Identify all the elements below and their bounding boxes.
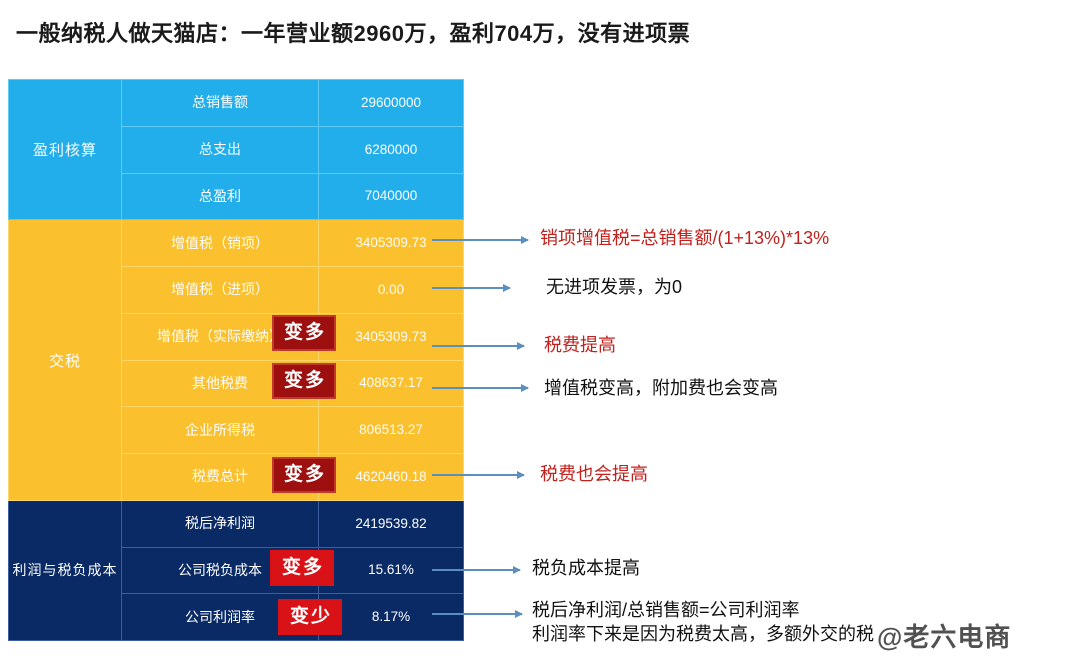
row-value-text: 408637.17 [359,375,423,390]
row-label-text: 增值税（销项） [122,235,318,252]
watermark-text: @老六电商 [877,617,1011,654]
row-label-text: 总销售额 [122,94,318,111]
row-label: 税后净利润 [122,500,319,547]
row-label: 总盈利 [122,173,319,220]
table-row: 交税 增值税（销项） 3405309.73 [9,220,464,267]
row-value-text: 3405309.73 [355,329,426,344]
annotation-vat-and-surcharge-increase: 增值税变高，附加费也会变高 [544,376,778,400]
row-value: 4620460.18 [319,454,464,501]
row-value-text: 4620460.18 [355,469,426,484]
row-value: 806513.27 [319,407,464,454]
annotation-output-vat-formula: 销项增值税=总销售额/(1+13%)*13% [540,226,829,250]
badge-tax-burden-increase: 变多 [270,550,334,586]
annotation-profit-rate-explanation: 税后净利润/总销售额=公司利润率 利润率下来是因为税费太高，多额外交的税 [532,598,874,647]
row-value-text: 7040000 [365,188,418,203]
annotation-tax-burden-increase: 税负成本提高 [532,556,640,580]
row-value: 6280000 [319,126,464,173]
row-label-text: 增值税（进项） [122,281,318,298]
row-value-text: 8.17% [372,609,410,624]
row-label: 总支出 [122,126,319,173]
row-value: 29600000 [319,80,464,127]
row-label-text: 企业所得税 [122,422,318,439]
row-value: 3405309.73 [319,220,464,267]
row-value-text: 2419539.82 [355,516,426,531]
tax-comparison-table: 盈利核算 总销售额 29600000 总支出 6280000 总盈利 70400… [8,79,464,641]
annotation-tax-increase: 税费提高 [544,333,616,357]
row-value: 7040000 [319,173,464,220]
row-value: 408637.17 [319,360,464,407]
arrow-to-annotation-3 [432,345,524,347]
row-value-text: 0.00 [378,282,404,297]
table-row: 盈利核算 总销售额 29600000 [9,80,464,127]
arrow-to-annotation-6 [432,569,520,571]
annotation-no-input-invoice: 无进项发票，为0 [546,275,682,299]
row-label-text: 总盈利 [122,188,318,205]
section-label-tax-payment: 交税 [9,220,122,501]
page-title: 一般纳税人做天猫店：一年营业额2960万，盈利704万，没有进项票 [16,16,690,48]
arrow-to-annotation-4 [432,387,528,389]
row-value-text: 15.61% [368,562,414,577]
row-label: 增值税（销项） [122,220,319,267]
arrow-to-annotation-5 [432,474,524,476]
row-value-text: 29600000 [361,95,421,110]
row-value-text: 806513.27 [359,422,423,437]
badge-vat-actual-increase: 变多 [272,315,336,351]
row-label-text: 总支出 [122,141,318,158]
row-value: 2419539.82 [319,500,464,547]
badge-other-taxes-increase: 变多 [272,363,336,399]
section-label-profit-accounting: 盈利核算 [9,80,122,220]
row-value-text: 3405309.73 [355,235,426,250]
table-body: 盈利核算 总销售额 29600000 总支出 6280000 总盈利 70400… [9,80,464,641]
section-label-profit-and-tax-burden: 利润与税负成本 [9,500,122,640]
row-value: 0.00 [319,267,464,314]
arrow-to-annotation-1 [432,239,528,241]
annotation-total-tax-increase: 税费也会提高 [540,462,648,486]
row-label: 企业所得税 [122,407,319,454]
row-value-text: 6280000 [365,142,418,157]
arrow-to-annotation-2 [432,287,510,289]
badge-total-taxes-increase: 变多 [272,457,336,493]
row-label: 增值税（进项） [122,267,319,314]
arrow-to-annotation-7 [432,613,522,615]
row-label: 总销售额 [122,80,319,127]
row-label-text: 税后净利润 [122,515,318,532]
badge-profit-rate-decrease: 变少 [278,599,342,635]
table-row: 利润与税负成本 税后净利润 2419539.82 [9,500,464,547]
row-value: 3405309.73 [319,313,464,360]
